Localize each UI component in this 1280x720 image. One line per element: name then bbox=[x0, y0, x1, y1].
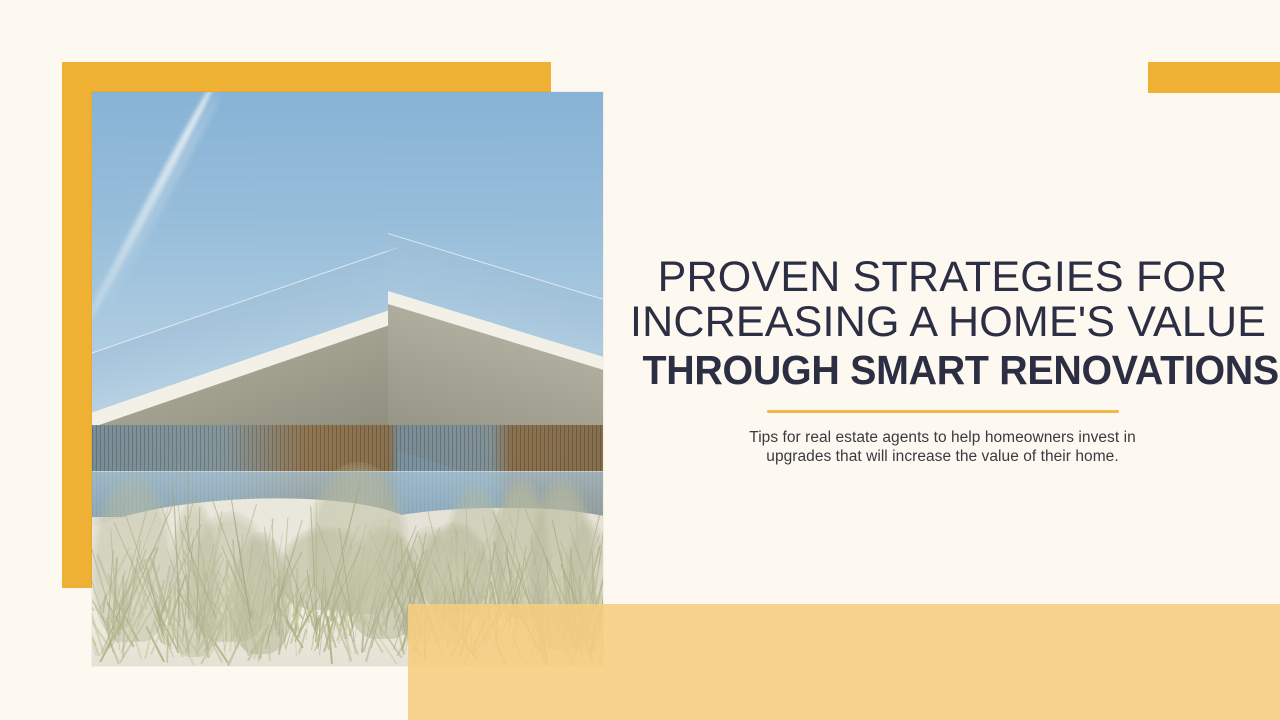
headline-line-3: THROUGH SMART RENOVATIONS bbox=[643, 346, 1243, 394]
subtitle-line-2: upgrades that will increase the value of… bbox=[718, 447, 1168, 466]
text-content: PROVEN STRATEGIES FOR INCREASING A HOME'… bbox=[630, 255, 1255, 466]
headline-line-1: PROVEN STRATEGIES FOR bbox=[630, 255, 1255, 300]
accent-block-bottom-right bbox=[408, 604, 1280, 720]
divider-rule bbox=[767, 410, 1119, 413]
subtitle: Tips for real estate agents to help home… bbox=[718, 428, 1168, 466]
hero-photo bbox=[92, 92, 603, 666]
slide-canvas: PROVEN STRATEGIES FOR INCREASING A HOME'… bbox=[0, 0, 1280, 720]
hero-photo-image bbox=[92, 92, 603, 666]
accent-block-top-right bbox=[1148, 62, 1280, 93]
headline-line-2: INCREASING A HOME'S VALUE bbox=[630, 300, 1255, 345]
subtitle-line-1: Tips for real estate agents to help home… bbox=[718, 428, 1168, 447]
